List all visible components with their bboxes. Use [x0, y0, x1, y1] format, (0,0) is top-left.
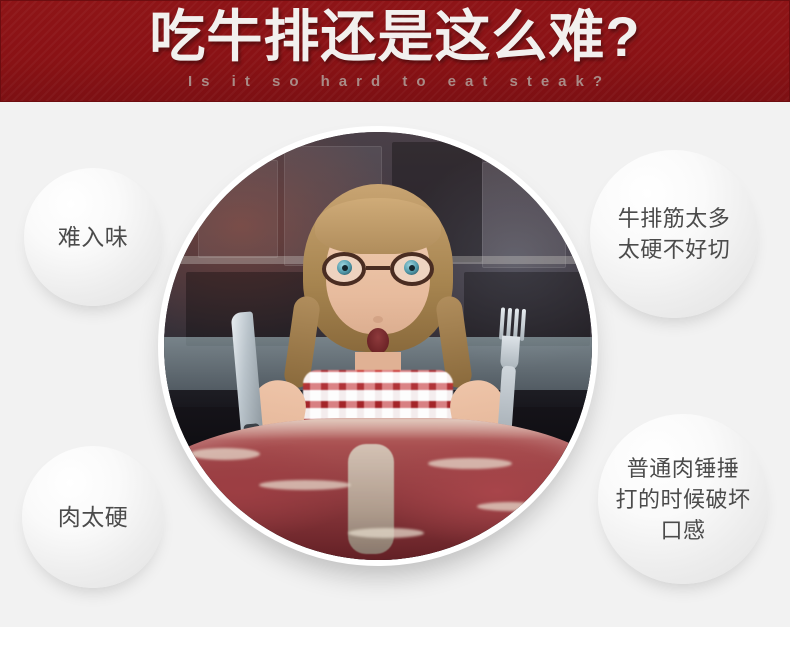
steak-marbling: [428, 458, 512, 469]
eye-right: [404, 260, 419, 275]
giant-steak: [164, 418, 592, 560]
caption-bubble-bottom-left[interactable]: 肉太硬: [22, 446, 164, 588]
glasses-bridge: [366, 266, 390, 270]
steak-marbling: [348, 528, 424, 538]
wall-panel-dark: [464, 272, 590, 346]
wall-panel: [198, 160, 278, 258]
hair-fringe: [315, 198, 441, 254]
caption-bubble-top-right-text: 牛排筋太多 太硬不好切: [618, 203, 731, 265]
steak-marbling: [477, 502, 543, 511]
steak-marbling: [259, 480, 351, 490]
hero-photo-frame: [158, 126, 598, 566]
footer-spacer: [0, 627, 790, 647]
nose: [373, 316, 383, 323]
pupil: [409, 265, 415, 271]
caption-bubble-bottom-right-text: 普通肉锤捶 打的时候破坏 口感: [615, 453, 750, 546]
caption-bubble-top-right[interactable]: 牛排筋太多 太硬不好切: [590, 150, 758, 318]
steak-marbling: [190, 448, 260, 460]
page-title: 吃牛排还是这么难?: [1, 4, 789, 70]
header-banner: 吃牛排还是这么难? Is it so hard to eat steak?: [0, 0, 790, 102]
steak-fat-rim: [164, 418, 592, 440]
content-area: 难入味 肉太硬 牛排筋太多 太硬不好切 普通肉锤捶 打的时候破坏 口感: [0, 102, 790, 627]
wall-panel: [482, 162, 566, 268]
eye-left: [337, 260, 352, 275]
page-subtitle: Is it so hard to eat steak?: [1, 73, 789, 91]
steak-marbling: [170, 514, 228, 523]
caption-bubble-top-left[interactable]: 难入味: [24, 168, 162, 306]
mouth: [367, 328, 389, 354]
caption-bubble-bottom-right[interactable]: 普通肉锤捶 打的时候破坏 口感: [598, 414, 768, 584]
promo-page: 吃牛排还是这么难? Is it so hard to eat steak?: [0, 0, 790, 647]
hero-photo: [164, 132, 592, 560]
caption-bubble-bottom-left-text: 肉太硬: [58, 501, 129, 534]
banner-inner: 吃牛排还是这么难? Is it so hard to eat steak?: [1, 1, 789, 101]
pupil: [342, 265, 348, 271]
glasses-icon: [322, 252, 434, 286]
caption-bubble-top-left-text: 难入味: [58, 221, 129, 254]
